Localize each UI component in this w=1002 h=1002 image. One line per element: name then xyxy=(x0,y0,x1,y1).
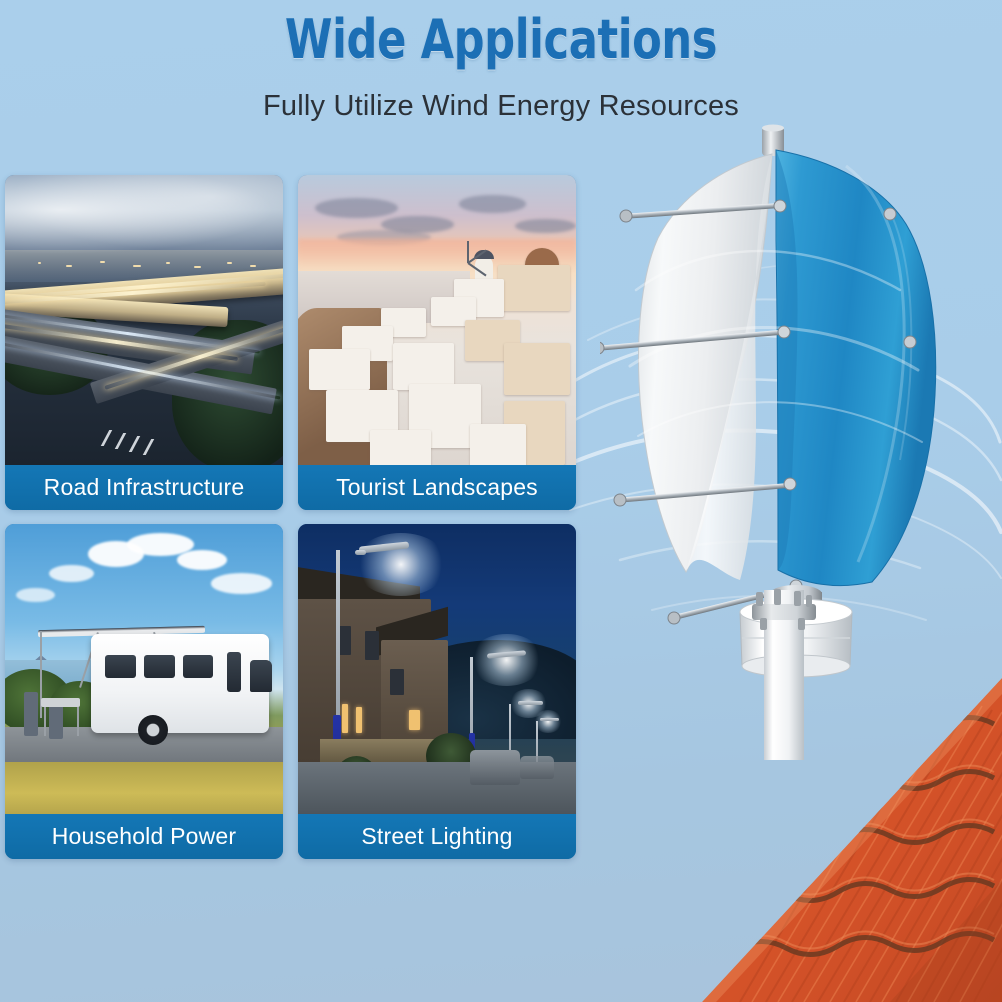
card-caption-street-lighting: Street Lighting xyxy=(298,814,576,859)
card-caption-household-power: Household Power xyxy=(5,814,283,859)
highway-interchange-dusk-photo xyxy=(5,175,283,465)
card-household-power[interactable]: Household Power xyxy=(5,524,283,859)
rv-camper-lakeside-photo xyxy=(5,524,283,814)
card-row-top: Road Infrastructure xyxy=(5,175,583,510)
card-row-bottom: Household Power xyxy=(5,524,583,859)
card-caption-road-infrastructure: Road Infrastructure xyxy=(5,465,283,510)
card-street-lighting[interactable]: Street Lighting xyxy=(298,524,576,859)
application-card-grid: Road Infrastructure xyxy=(5,175,583,873)
card-tourist-landscapes[interactable]: Tourist Landscapes xyxy=(298,175,576,510)
page-subtitle: Fully Utilize Wind Energy Resources xyxy=(0,88,1002,124)
card-road-infrastructure[interactable]: Road Infrastructure xyxy=(5,175,283,510)
santorini-sunset-village-photo xyxy=(298,175,576,465)
header: Wide Applications Fully Utilize Wind Ene… xyxy=(0,0,1002,124)
card-caption-tourist-landscapes: Tourist Landscapes xyxy=(298,465,576,510)
terracotta-tile-roof xyxy=(640,560,1002,1002)
night-street-lamps-photo xyxy=(298,524,576,814)
page-title: Wide Applications xyxy=(100,8,902,72)
